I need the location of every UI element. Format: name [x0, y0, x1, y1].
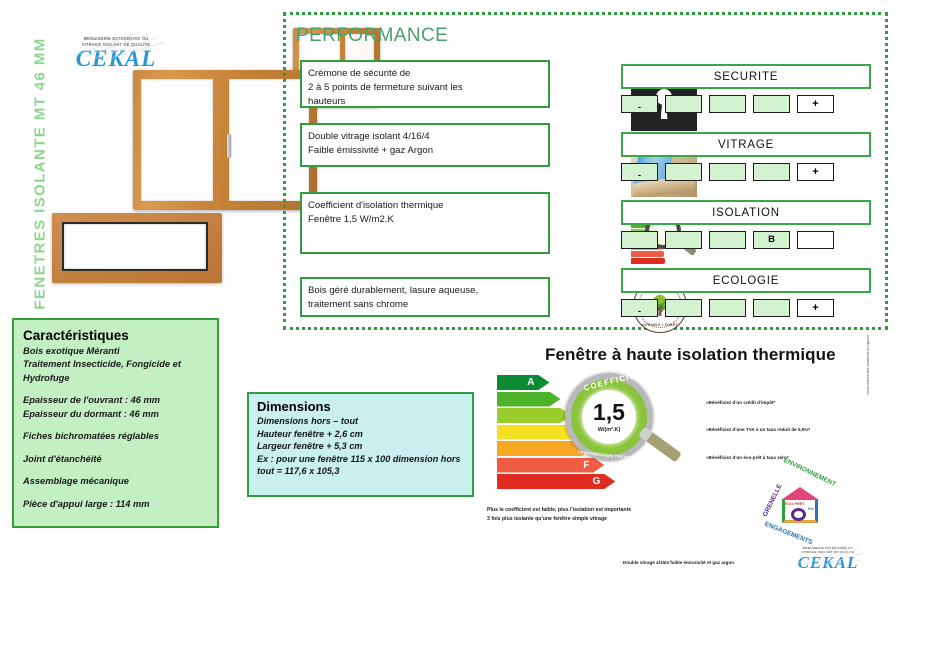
text-line: hauteurs: [308, 95, 542, 109]
text-line: Double vitrage isolant 4/16/4: [308, 130, 542, 144]
list-item: Epaisseur du dormant : 46 mm: [23, 408, 217, 421]
rating-square[interactable]: [621, 231, 658, 249]
cekal-wordmark: CEKAL: [62, 47, 170, 70]
list-item: Dimensions hors – tout: [257, 415, 472, 428]
text-line: Faible émissivité + gaz Argon: [308, 144, 542, 158]
rating-square[interactable]: -: [621, 299, 658, 317]
performance-title: PERFORMANCE: [296, 25, 448, 47]
rating-squares: - +: [621, 163, 871, 181]
zero-ring: [791, 508, 806, 521]
window-handle: [227, 134, 231, 158]
energy-bar-G: G: [497, 474, 615, 489]
list-item: Epaisseur de l'ouvrant : 46 mm: [23, 394, 217, 407]
list-item: Hauteur fenêtre + 2,6 cm: [257, 428, 472, 441]
rating-square[interactable]: +: [797, 299, 834, 317]
window-pane: [141, 79, 213, 201]
stamp-bottom-text: DURABLE / FORET: [642, 323, 677, 327]
eco-pret-percent: 0%: [808, 506, 814, 511]
note-line: 3 fois plus isolante qu'une fenêtre simp…: [487, 515, 717, 524]
rating-squares: B: [621, 231, 871, 249]
text-line: Coefficient d'isolation thermique: [308, 199, 542, 213]
coefficient-value: 1,5: [593, 401, 625, 424]
rating-row-securite: SECURITE - +: [621, 64, 871, 113]
rating-row-isolation: ISOLATION B: [621, 200, 871, 249]
house-icon: ECO-PRET 0%: [781, 487, 819, 523]
list-item: Traitement Insecticide, Fongicide et: [23, 358, 217, 371]
rating-square[interactable]: [665, 95, 702, 113]
rating-square[interactable]: [753, 163, 790, 181]
cekal-wordmark: CEKAL: [788, 554, 868, 571]
rating-row-ecologie: ECOLOGIE - +: [621, 268, 871, 317]
bottom-glazing-note: Double vitrage 4/16/4 faible émissivité …: [623, 560, 734, 565]
window-photo-transom: [52, 213, 222, 283]
energy-bar-A: A: [497, 375, 549, 390]
thermal-section-title: Fenêtre à haute isolation thermique: [545, 345, 836, 365]
list-item: Fiches bichromatées réglables: [23, 430, 217, 443]
eco-pret-badge: ECO-PRET: [785, 502, 805, 506]
rating-label: SECURITE: [621, 64, 871, 89]
grenelle-environnement-logo: GRENELLE ENVIRONNEMENT ENGAGEMENTS ECO-P…: [757, 467, 843, 547]
rating-square[interactable]: +: [797, 163, 834, 181]
caracteristiques-list: Bois exotique Méranti Traitement Insecti…: [23, 345, 217, 511]
energy-bar-C: [497, 408, 571, 423]
window-pane: [62, 222, 208, 271]
list-item: Assemblage mécanique: [23, 475, 217, 488]
performance-box-vitrage: Double vitrage isolant 4/16/4 Faible émi…: [300, 123, 550, 167]
list-item: Pièce d'appui large : 114 mm: [23, 498, 217, 511]
rating-square[interactable]: [753, 299, 790, 317]
rating-label: ECOLOGIE: [621, 268, 871, 293]
performance-box-coefficient: Coefficient d'isolation thermique Fenêtr…: [300, 192, 550, 254]
cekal-logo-bottom: MENUISERIE EXTERIEURE OU VITRAGE ISOLANT…: [788, 546, 868, 571]
caracteristiques-panel: Caractéristiques Bois exotique Méranti T…: [12, 318, 219, 528]
caracteristiques-title: Caractéristiques: [23, 328, 217, 343]
cekal-logo-top: MENUISERIE EXTERIEURE OU VITRAGE ISOLANT…: [62, 36, 170, 70]
dimensions-list: Dimensions hors – tout Hauteur fenêtre +…: [257, 415, 472, 478]
rating-square[interactable]: [665, 299, 702, 317]
rating-square[interactable]: [709, 231, 746, 249]
dimensions-title: Dimensions: [257, 399, 472, 414]
energy-bar-B: [497, 392, 560, 407]
text-line: Fenêtre 1,5 W/m2.K: [308, 213, 542, 227]
house-roof: [781, 487, 819, 500]
magnifier-lens-inner: 1,5 W/(m².K): [582, 390, 636, 444]
rating-square[interactable]: [797, 231, 834, 249]
rating-square[interactable]: +: [797, 95, 834, 113]
rating-square[interactable]: [665, 163, 702, 181]
poster-root: FENETRES ISOLANTE MT 46 MM MENUISERIE EX…: [0, 0, 940, 665]
rating-squares: - +: [621, 95, 871, 113]
side-disclaimer: *sous réserve des conditions en vigueur: [866, 315, 870, 395]
coefficient-magnifier: COEFFICIENT 1,5 W/(m².K) TRANSMISSION TH…: [565, 373, 657, 465]
vertical-product-title: FENETRES ISOLANTE MT 46 MM: [32, 24, 49, 324]
text-line: traitement sans chrome: [308, 298, 542, 312]
note-line: Plus le coefficient est faible, plus l'i…: [487, 506, 717, 515]
text-line: Crémone de sécurité de: [308, 67, 542, 81]
performance-box-bois: Bois géré durablement, lasure aqueuse, t…: [300, 277, 550, 317]
benefit-item: »Bénéficiez d'une TVA à un taux réduit d…: [706, 427, 881, 433]
list-item: tout = 117,6 x 105,3: [257, 465, 472, 478]
performance-box-cremone: Crémone de sécurité de 2 à 5 points de f…: [300, 60, 550, 108]
performance-panel: PERFORMANCE Crémone de sécurité de 2 à 5…: [283, 12, 888, 330]
list-item: Largeur fenêtre + 5,3 cm: [257, 440, 472, 453]
rating-square[interactable]: -: [621, 163, 658, 181]
rating-square[interactable]: [709, 163, 746, 181]
rating-square[interactable]: [753, 95, 790, 113]
rating-label: ISOLATION: [621, 200, 871, 225]
dimensions-panel: Dimensions Dimensions hors – tout Hauteu…: [247, 392, 474, 497]
rating-square[interactable]: [665, 231, 702, 249]
list-item: Hydrofuge: [23, 372, 217, 385]
rating-square[interactable]: [709, 299, 746, 317]
list-item: Bois exotique Méranti: [23, 345, 217, 358]
rating-label: VITRAGE: [621, 132, 871, 157]
rating-square[interactable]: [709, 95, 746, 113]
list-item: Ex : pour une fenêtre 115 x 100 dimensio…: [257, 453, 472, 466]
benefit-item: »Bénéficiez d'un crédit d'impôt*: [706, 400, 881, 406]
rating-square[interactable]: -: [621, 95, 658, 113]
rating-square-grade[interactable]: B: [753, 231, 790, 249]
list-item: Joint d'étanchéité: [23, 453, 217, 466]
text-line: Bois géré durablement, lasure aqueuse,: [308, 284, 542, 298]
text-line: 2 à 5 points de fermeture suivant les: [308, 81, 542, 95]
rating-squares: - +: [621, 299, 871, 317]
rating-row-vitrage: VITRAGE - +: [621, 132, 871, 181]
coefficient-note: Plus le coefficient est faible, plus l'i…: [487, 506, 717, 524]
coefficient-unit: W/(m².K): [598, 427, 621, 433]
